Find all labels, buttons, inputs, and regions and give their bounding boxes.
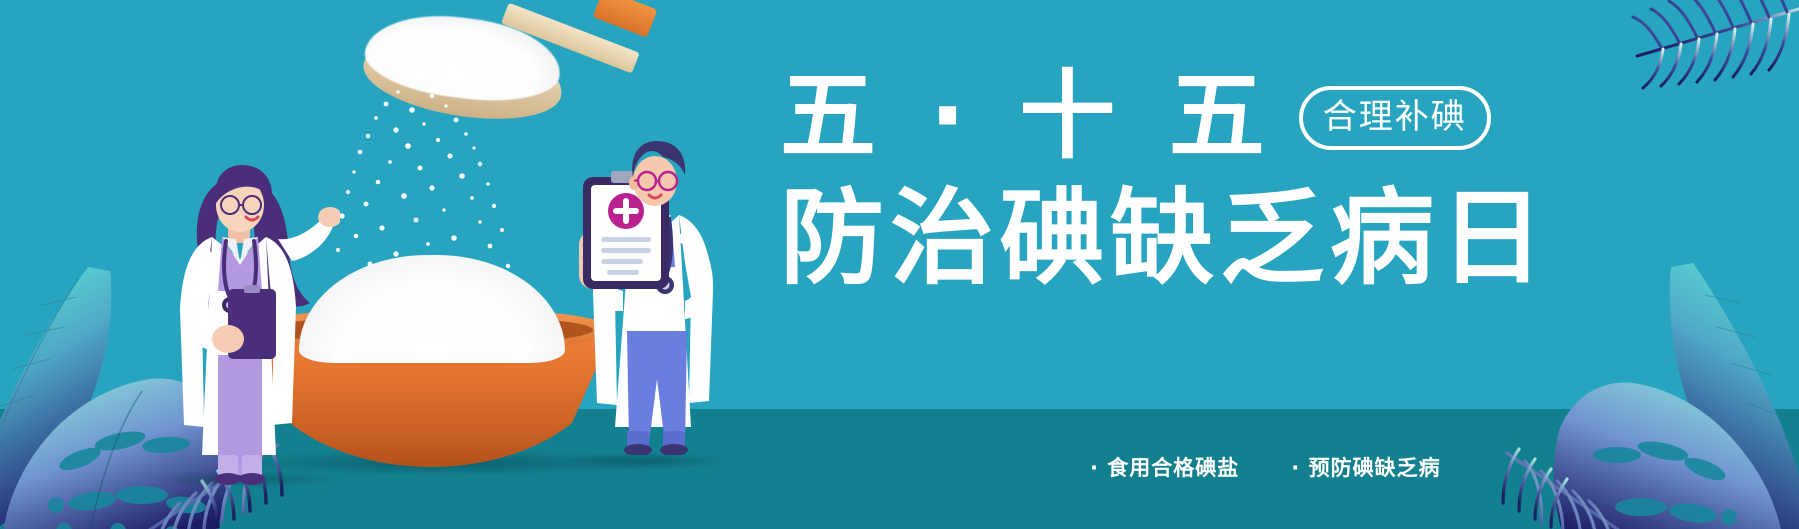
iodine-deficiency-day-banner: 五 · 十 五 合理补碘 防治碘缺乏病日 · 食用合格碘盐 · 预防碘缺乏病 [0, 0, 1799, 529]
slogan-text: 食用合格碘盐 [1107, 456, 1239, 480]
date-text: 五 · 十 五 [780, 68, 1275, 164]
slogan-item-1: · 食用合格碘盐 [1090, 452, 1239, 482]
male-doctor-illustration [545, 135, 735, 455]
headline-text-block: 五 · 十 五 合理补碘 防治碘缺乏病日 [780, 60, 1440, 290]
slogan-bullet: · [1291, 456, 1300, 480]
slogan-text: 预防碘缺乏病 [1309, 456, 1441, 480]
slogan-badge-label: 合理补碘 [1323, 100, 1467, 134]
bottom-slogans: · 食用合格碘盐 · 预防碘缺乏病 [1090, 452, 1441, 482]
slogan-bullet: · [1090, 456, 1099, 480]
page-title: 防治碘缺乏病日 [780, 186, 1440, 290]
female-doctor-illustration [140, 155, 340, 485]
slogan-item-2: · 预防碘缺乏病 [1291, 452, 1440, 482]
date-line: 五 · 十 五 合理补碘 [780, 60, 1440, 172]
salt-spoon [355, 0, 615, 114]
slogan-badge: 合理补碘 [1299, 86, 1491, 150]
